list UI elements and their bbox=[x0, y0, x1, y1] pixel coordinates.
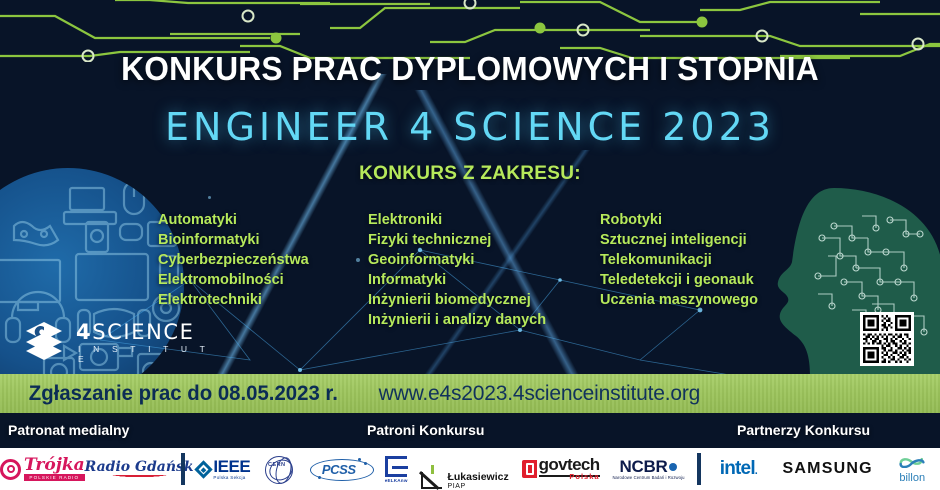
topic-item: Bioinformatyki bbox=[158, 230, 309, 250]
topic-item: Elektromobilności bbox=[158, 270, 309, 290]
samsung-wordmark: SAMSUNG bbox=[783, 460, 873, 478]
lukasiewicz-logo[interactable]: Łukasiewicz PIAP bbox=[420, 448, 508, 490]
topic-item: Elektrotechniki bbox=[158, 290, 309, 310]
divider bbox=[181, 453, 185, 485]
sponsor-header-patrons: Patroni Konkursu bbox=[367, 422, 484, 438]
event-subtitle: ENGINEER 4 SCIENCE 2023 bbox=[0, 105, 940, 149]
govtech-mark-icon bbox=[522, 460, 537, 478]
logo-group-partners: intel. SAMSUNG billon bbox=[707, 448, 939, 490]
cern-wordmark: CERN bbox=[268, 462, 285, 468]
topic-item: Sztucznej inteligencji bbox=[600, 230, 758, 250]
brand-science: SCIENCE bbox=[92, 320, 194, 344]
sponsor-header-media: Patronat medialny bbox=[8, 422, 129, 438]
bokeh-dot bbox=[208, 196, 211, 199]
topic-item: Elektroniki bbox=[368, 210, 546, 230]
elka-logo[interactable]: eELKAnw bbox=[385, 448, 408, 490]
ieee-wordmark: IEEE bbox=[213, 459, 250, 475]
deadline-text: Zgłaszanie prac do 08.05.2023 r. bbox=[29, 382, 338, 406]
ncbr-wordmark: NCBR bbox=[612, 459, 684, 475]
sponsor-header-partners: Partnerzy Konkursu bbox=[737, 422, 870, 438]
elka-e-icon bbox=[385, 456, 407, 477]
topic-item: Robotyki bbox=[600, 210, 758, 230]
logo-group-media: Trójka POLSKIE RADIO Radio Gdańsk bbox=[0, 448, 175, 490]
cern-logo[interactable]: CERN bbox=[263, 448, 297, 490]
brand-logo-4science: 4SCIENCE I N S T I T U T E bbox=[22, 316, 212, 362]
ncbr-logo[interactable]: NCBR Narodowe Centrum Badań i Rozwoju bbox=[612, 448, 684, 490]
radio-gdansk-wave-icon bbox=[85, 475, 194, 479]
topic-item: Informatyki bbox=[368, 270, 546, 290]
billon-wordmark: billon bbox=[898, 472, 926, 484]
intel-wordmark: intel bbox=[720, 458, 755, 479]
govtech-logo[interactable]: govtech Polska bbox=[522, 448, 600, 490]
topic-item: Automatyki bbox=[158, 210, 309, 230]
poster: KONKURS PRAC DYPLOMOWYCH I STOPNIA ENGIN… bbox=[0, 0, 940, 490]
trojka-ring-icon bbox=[0, 459, 21, 480]
ieee-logo[interactable]: IEEE Polska Sekcja bbox=[197, 448, 250, 490]
cern-accelerator-icon: CERN bbox=[263, 454, 297, 484]
topic-column-2: Elektroniki Fizyki technicznej Geoinform… bbox=[368, 210, 546, 330]
brand-institute: I N S T I T U T E bbox=[78, 344, 212, 364]
elka-wordmark: eELKAnw bbox=[385, 478, 408, 483]
radio-gdansk-logo[interactable]: Radio Gdańsk bbox=[85, 448, 194, 490]
topic-item: Cyberbezpieczeństwa bbox=[158, 250, 309, 270]
sponsor-headers: Patronat medialny Patroni Konkursu Partn… bbox=[0, 413, 940, 448]
billon-infinity-icon bbox=[898, 455, 926, 468]
logo-group-patrons: IEEE Polska Sekcja CERN PCSS bbox=[191, 448, 691, 490]
topic-item: Teledetekcji i geonauk bbox=[600, 270, 758, 290]
intel-dot: . bbox=[755, 465, 757, 477]
topic-item: Uczenia maszynowego bbox=[600, 290, 758, 310]
pcss-wordmark: PCSS bbox=[322, 462, 356, 477]
intel-logo[interactable]: intel. bbox=[720, 448, 757, 490]
page-title: KONKURS PRAC DYPLOMOWYCH I STOPNIA bbox=[19, 50, 921, 88]
samsung-logo[interactable]: SAMSUNG bbox=[783, 448, 873, 490]
sponsor-logo-strip: Trójka POLSKIE RADIO Radio Gdańsk IEEE P… bbox=[0, 448, 940, 490]
brand-wordmark: 4SCIENCE bbox=[76, 320, 195, 344]
topic-item: Geoinformatyki bbox=[368, 250, 546, 270]
section-heading: KONKURS Z ZAKRESU: bbox=[0, 163, 940, 185]
lukasiewicz-mark-icon bbox=[420, 465, 444, 490]
deadline-banner: Zgłaszanie prac do 08.05.2023 r. www.e4s… bbox=[0, 374, 940, 413]
qr-code[interactable] bbox=[860, 312, 914, 366]
topic-columns: Automatyki Bioinformatyki Cyberbezpiecze… bbox=[0, 210, 940, 325]
lukasiewicz-wordmark: Łukasiewicz bbox=[447, 472, 508, 483]
ieee-sublabel: Polska Sekcja bbox=[213, 475, 250, 480]
divider bbox=[697, 453, 701, 485]
stacked-layers-icon bbox=[22, 318, 66, 360]
topic-column-1: Automatyki Bioinformatyki Cyberbezpiecze… bbox=[158, 210, 309, 310]
topic-item: Inżynierii i analizy danych bbox=[368, 310, 546, 330]
radio-gdansk-word1: Radio bbox=[85, 459, 130, 475]
topic-column-3: Robotyki Sztucznej inteligencji Telekomu… bbox=[600, 210, 758, 310]
ncbr-dot-icon bbox=[669, 463, 677, 471]
pcss-logo[interactable]: PCSS bbox=[310, 448, 372, 490]
ncbr-sublabel: Narodowe Centrum Badań i Rozwoju bbox=[612, 475, 684, 480]
govtech-wordmark: govtech bbox=[539, 457, 600, 472]
topic-item: Telekomunikacji bbox=[600, 250, 758, 270]
brand-four: 4 bbox=[76, 320, 92, 344]
trojka-wordmark: Trójka bbox=[24, 458, 85, 473]
website-url[interactable]: www.e4s2023.4scienceinstitute.org bbox=[379, 382, 700, 406]
billon-logo[interactable]: billon bbox=[898, 448, 926, 490]
trojka-sublabel: POLSKIE RADIO bbox=[24, 474, 85, 481]
topic-item: Inżynierii biomedycznej bbox=[368, 290, 546, 310]
ieee-diamond-icon bbox=[195, 460, 213, 478]
lukasiewicz-sublabel: PIAP bbox=[447, 483, 508, 490]
trojka-logo[interactable]: Trójka POLSKIE RADIO bbox=[0, 448, 85, 490]
topic-item: Fizyki technicznej bbox=[368, 230, 546, 250]
